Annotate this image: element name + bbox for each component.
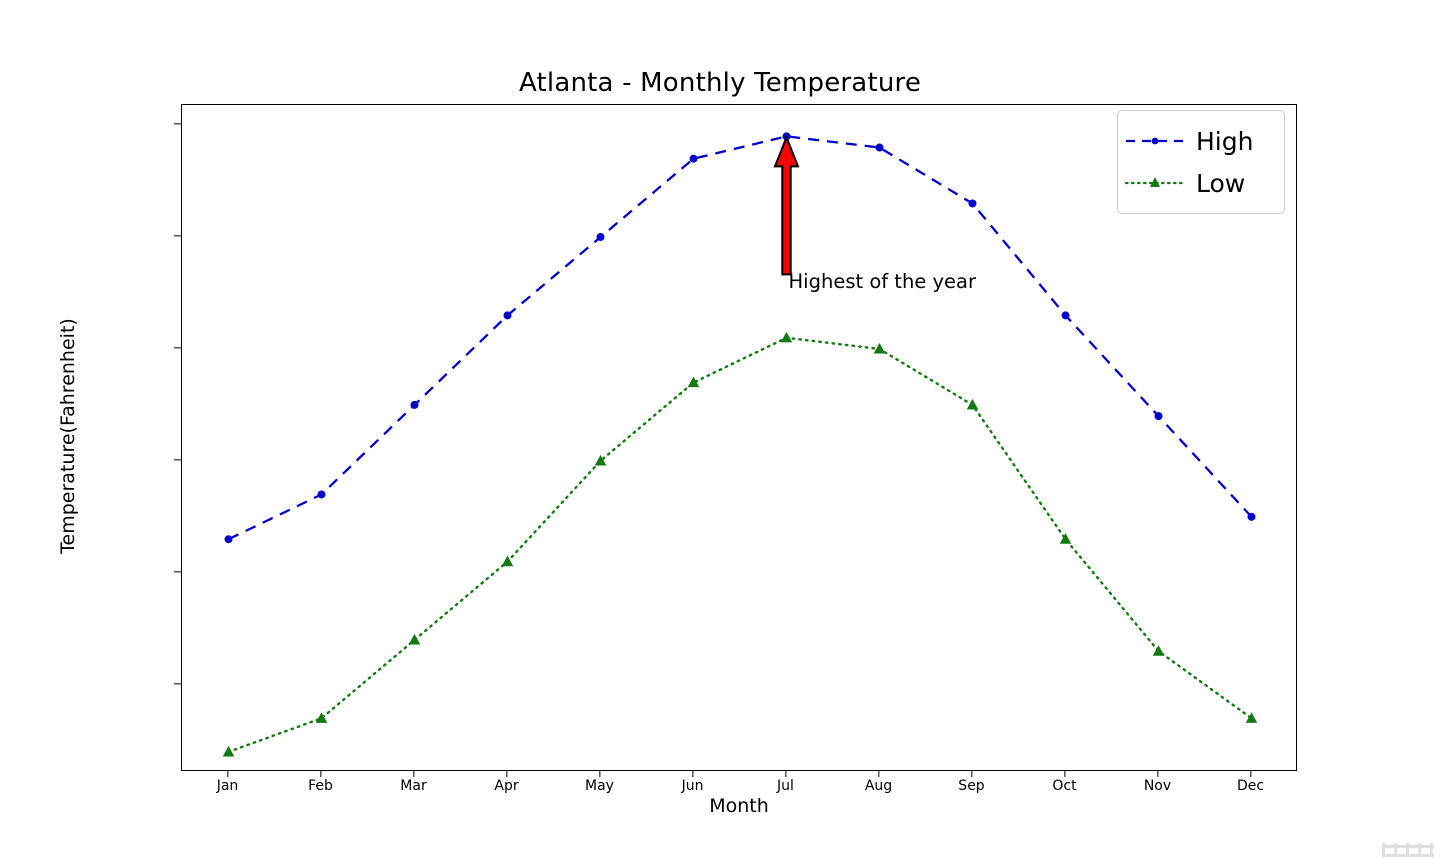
legend-label-low: Low [1186,171,1245,196]
x-tick-label: Nov [1144,778,1171,794]
data-point-marker [409,634,421,645]
x-tick-label: Feb [308,778,333,794]
y-tick-mark [174,571,181,572]
data-point-marker [595,455,607,466]
x-tick-label: Jul [777,778,794,794]
data-point-marker [1155,412,1163,420]
x-tick-label: Sep [958,778,984,794]
x-tick-label: May [585,778,614,794]
data-point-marker [318,490,326,498]
data-point-marker [969,199,977,207]
series-line-high [229,136,1252,539]
data-point-marker [1062,311,1070,319]
x-tick-label: Jan [217,778,239,794]
x-tick-label: Aug [865,778,892,794]
x-axis-label: Month [181,795,1297,817]
data-point-marker [781,332,793,343]
series-line-low [229,338,1252,752]
legend-label-high: High [1186,129,1253,154]
chart-legend[interactable]: High Low [1117,110,1285,214]
data-point-marker [411,401,419,409]
data-point-marker [967,399,979,410]
data-point-marker [1248,513,1256,521]
data-point-marker [1246,712,1258,723]
y-tick-mark [174,123,181,124]
matplotlib-figure: Atlanta - Monthly Temperature 4050607080… [0,0,1440,864]
data-point-marker [504,311,512,319]
y-axis-label: Temperature(Fahrenheit) [57,156,79,716]
data-point-marker [597,233,605,241]
annotation-label: Highest of the year [789,270,977,293]
x-tick-label: Oct [1052,778,1076,794]
data-point-marker [316,712,328,723]
legend-item-low[interactable]: Low [1124,162,1278,204]
y-tick-mark [174,683,181,684]
x-tick-label: Mar [400,778,426,794]
y-tick-mark [174,347,181,348]
data-point-marker [1153,645,1165,656]
data-point-marker [225,535,233,543]
annotation-arrow-icon [775,137,798,274]
data-point-marker [690,155,698,163]
data-point-marker [876,144,884,152]
y-tick-mark [174,235,181,236]
x-tick-label: Dec [1237,778,1264,794]
legend-swatch-high-icon [1124,131,1186,151]
x-tick-label: Jun [682,778,704,794]
data-point-marker [1060,533,1072,544]
data-point-marker [874,343,886,354]
legend-item-high[interactable]: High [1124,120,1278,162]
x-tick-label: Apr [494,778,518,794]
data-point-marker [223,746,235,757]
toolbar-artifact [1382,843,1434,857]
y-tick-mark [174,459,181,460]
legend-swatch-low-icon [1124,173,1186,193]
chart-title: Atlanta - Monthly Temperature [0,68,1440,98]
